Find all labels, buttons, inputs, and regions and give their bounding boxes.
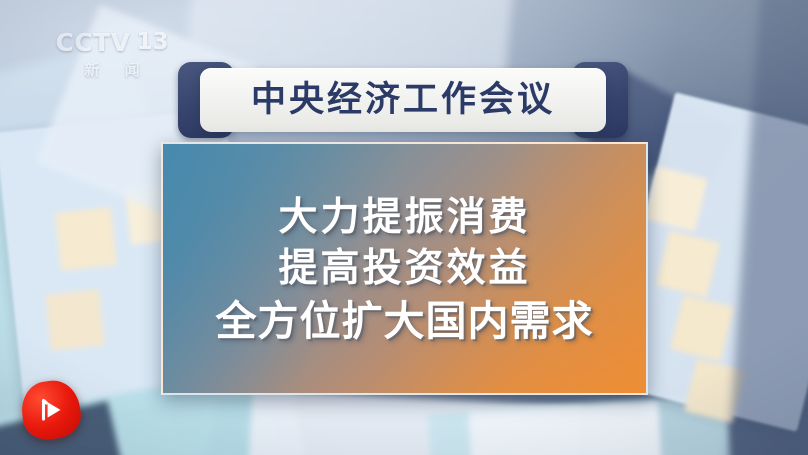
play-button-logo[interactable] [22,381,80,439]
background-paper-swatch [45,289,105,350]
content-text-block: 大力提振消费 提高投资效益 全方位扩大国内需求 [163,144,646,393]
banner-title-text: 中央经济工作会议 [251,83,555,118]
background-paper-sheet [469,401,662,455]
banner-plate: 中央经济工作会议 [200,68,606,132]
play-triangle-icon [22,381,80,439]
content-panel: 大力提振消费 提高投资效益 全方位扩大国内需求 [161,142,648,395]
content-line-1: 大力提振消费 [278,197,530,239]
content-line-3: 全方位扩大国内需求 [216,299,594,343]
title-banner: 中央经济工作会议 [178,62,628,138]
content-line-2: 提高投资效益 [278,248,530,290]
broadcast-graphic-stage: CCTV 13 新 闻 中央经济工作会议 大力提振消费 提高投资效益 全方位扩大… [0,0,808,455]
background-paper-swatch [55,207,117,271]
